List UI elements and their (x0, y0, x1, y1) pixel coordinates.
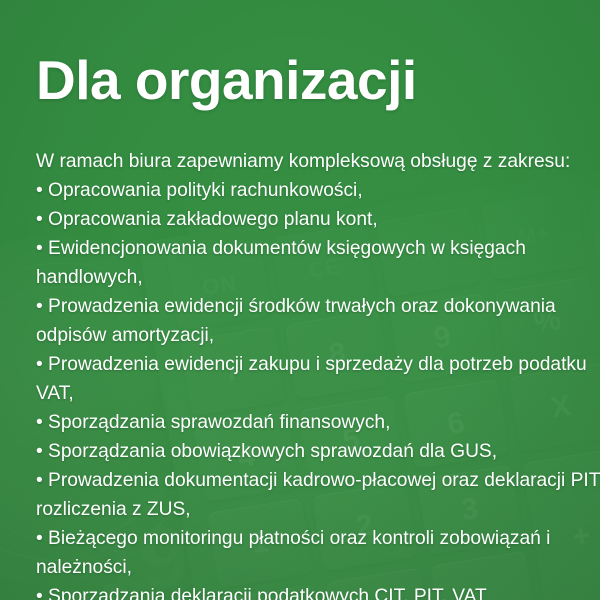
list-item-continuation: rozliczenia z ZUS, (36, 495, 592, 524)
page-title: Dla organizacji (36, 52, 417, 109)
list-item: • Sporządzania obowiązkowych sprawozdań … (36, 437, 592, 466)
card-content: Dla organizacji W ramach biura zapewniam… (0, 0, 600, 600)
list-item: • Bieżącego monitoringu płatności oraz k… (36, 524, 592, 553)
list-item-continuation: odpisów amortyzacji, (36, 321, 592, 350)
list-item: • Prowadzenia ewidencji zakupu i sprzeda… (36, 350, 592, 379)
list-item: • Prowadzenia dokumentacji kadrowo-płaco… (36, 466, 592, 495)
service-list: W ramach biura zapewniamy kompleksową ob… (36, 147, 592, 600)
list-item-continuation: VAT, (36, 379, 592, 408)
intro-line: W ramach biura zapewniamy kompleksową ob… (36, 147, 592, 176)
promo-card: 19 ON CE M8 M+ 7 8 9 % ÷ 4 5 6 X 1 2 3 +… (0, 0, 600, 600)
list-item: • Sporządzania sprawozdań finansowych, (36, 408, 592, 437)
list-item-continuation: należności, (36, 553, 592, 582)
list-item: • Sporządzania deklaracji podatkowych CI… (36, 582, 592, 600)
list-item: • Opracowania zakładowego planu kont, (36, 205, 592, 234)
list-item: • Prowadzenia ewidencji środków trwałych… (36, 292, 592, 321)
list-item: • Opracowania polityki rachunkowości, (36, 176, 592, 205)
list-item: • Ewidencjonowania dokumentów księgowych… (36, 234, 592, 263)
list-item-continuation: handlowych, (36, 263, 592, 292)
